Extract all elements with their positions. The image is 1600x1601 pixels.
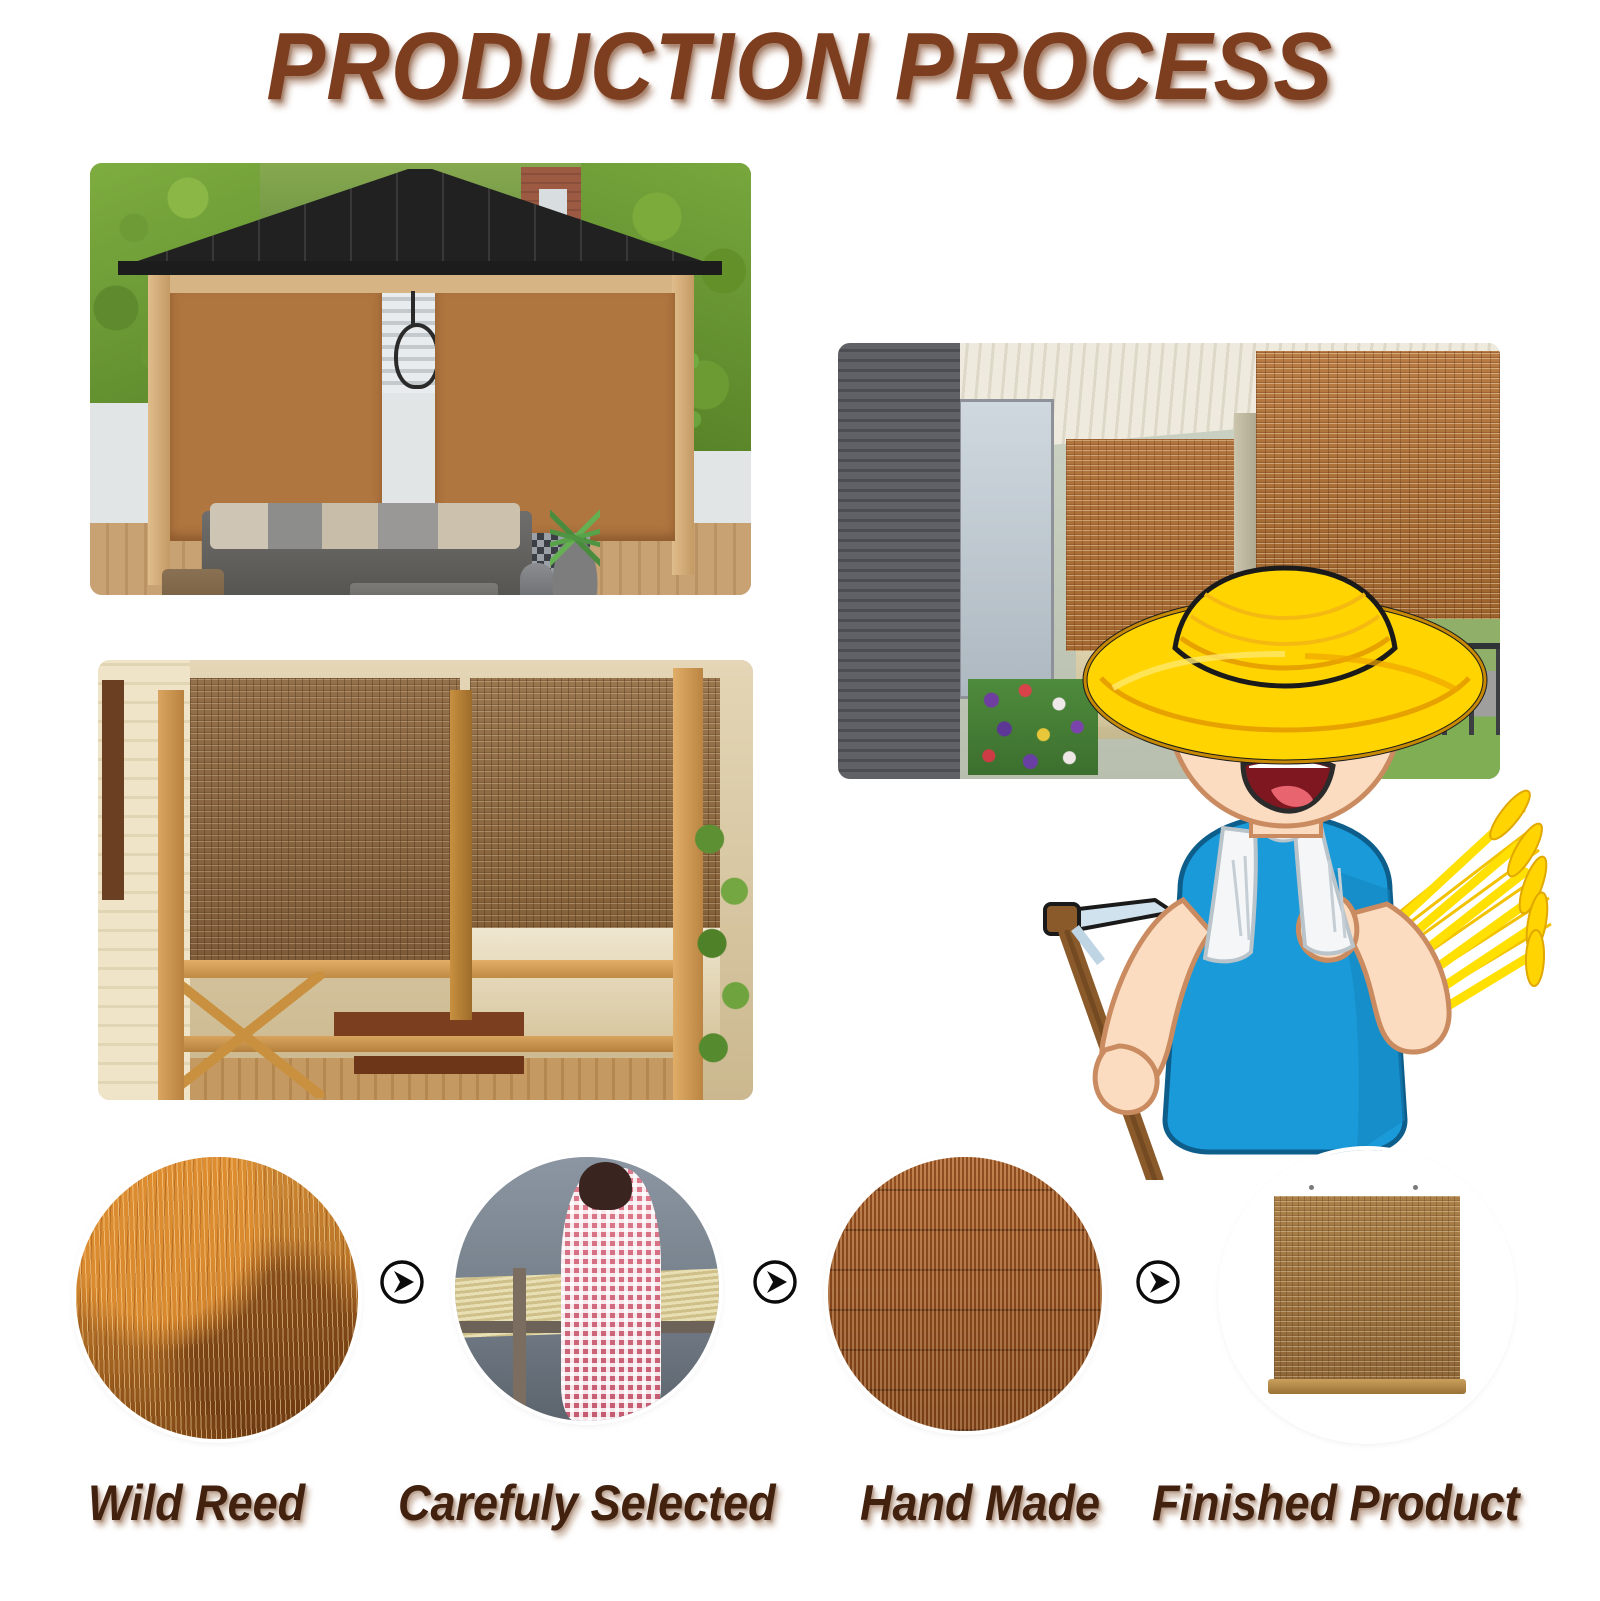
photo-gazebo-with-reed-shades [90, 163, 751, 595]
photo-veranda-with-reed-shades [98, 660, 753, 1100]
page-title: PRODUCTION PROCESS [267, 18, 1334, 116]
arrow-right-circle-icon [1134, 1258, 1182, 1306]
process-image-finished-product [1222, 1150, 1512, 1440]
process-image-hand-made [828, 1157, 1102, 1431]
arrow-right-circle-icon [751, 1258, 799, 1306]
cartoon-farmer-boy-mascot [1005, 560, 1565, 1180]
process-label-wild-reed: Wild Reed [88, 1478, 305, 1528]
process-label-finished-product: Finished Product [1152, 1478, 1520, 1528]
process-label-carefuly-selected: Carefuly Selected [398, 1478, 776, 1528]
process-image-carefuly-selected [455, 1157, 719, 1421]
process-label-hand-made: Hand Made [860, 1478, 1100, 1528]
arrow-right-circle-icon [378, 1258, 426, 1306]
reed-shade [190, 678, 460, 968]
process-image-wild-reed [76, 1157, 358, 1439]
title-bar: PRODUCTION PROCESS [0, 18, 1600, 116]
straw-hat [1085, 568, 1485, 762]
